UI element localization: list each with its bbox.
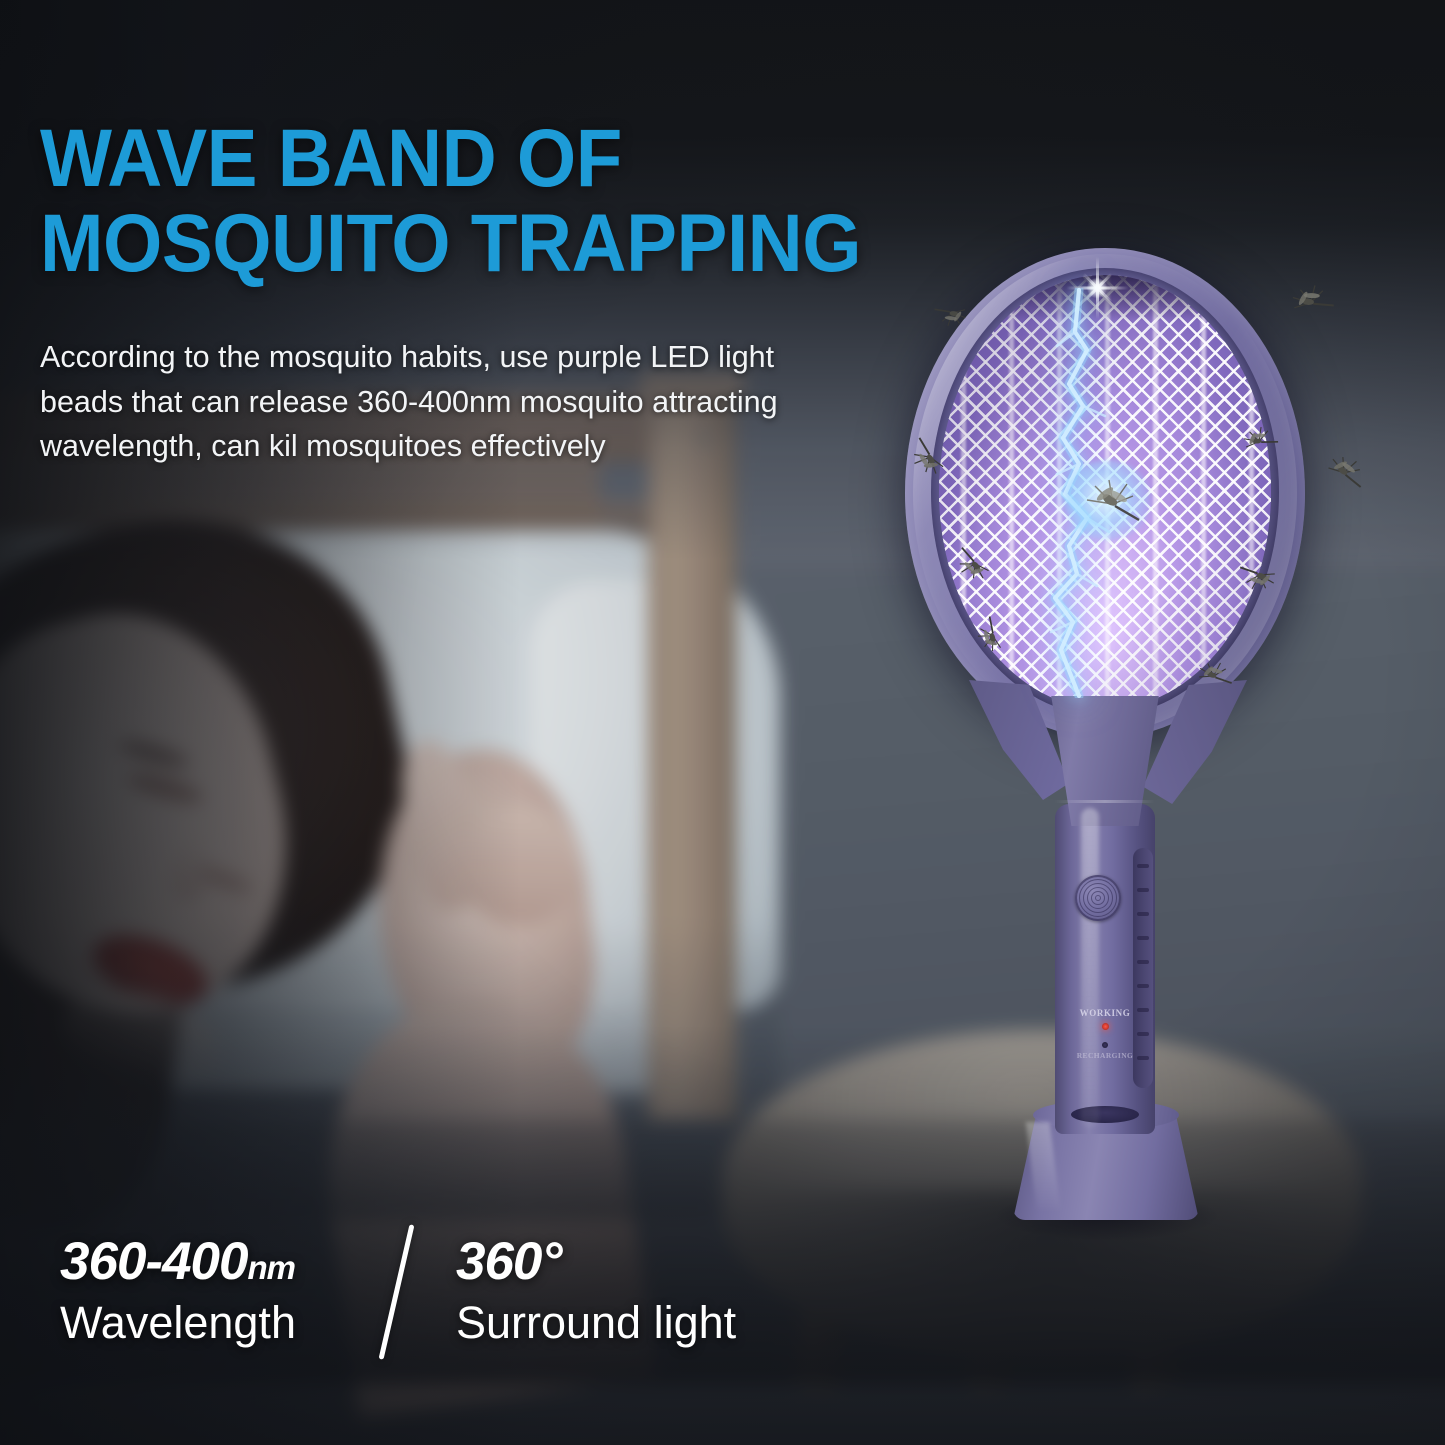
headline-line-2: MOSQUITO TRAPPING: [40, 205, 877, 284]
working-led-indicator: [1102, 1023, 1109, 1030]
status-indicator-group: WORKING RECHARGING: [1055, 1008, 1155, 1060]
feature-divider: [360, 1227, 430, 1357]
mosquito-icon: [1236, 557, 1281, 595]
power-button[interactable]: [1075, 875, 1121, 921]
page-title: WAVE BAND OF MOSQUITO TRAPPING: [40, 120, 877, 283]
feature-wavelength: 360-400nm Wavelength: [60, 1235, 296, 1348]
body-copy: According to the mosquito habits, use pu…: [40, 335, 830, 468]
mosquito-icon: [1322, 452, 1369, 493]
product-marketing-image: WORKING RECHARGING: [0, 0, 1445, 1445]
feature-wavelength-label: Wavelength: [60, 1298, 296, 1348]
product-mosquito-swatter: WORKING RECHARGING: [905, 248, 1325, 1228]
handle-seam: [1055, 800, 1155, 803]
working-label: WORKING: [1055, 1008, 1155, 1018]
feature-wavelength-value: 360-400nm: [60, 1235, 296, 1288]
feature-wavelength-number: 360-400: [60, 1232, 248, 1291]
handle-highlight: [1081, 808, 1099, 1128]
feature-callouts: 360-400nm Wavelength 360° Surround light: [60, 1227, 736, 1357]
feature-surround-light: 360° Surround light: [456, 1235, 736, 1348]
recharging-led-indicator: [1102, 1042, 1108, 1048]
feature-surround-value: 360°: [456, 1235, 736, 1288]
copy-block: WAVE BAND OF MOSQUITO TRAPPING According…: [40, 120, 940, 468]
recharging-label: RECHARGING: [1055, 1051, 1155, 1060]
mosquito-zapped: [1083, 476, 1145, 526]
feature-surround-label: Surround light: [456, 1298, 736, 1348]
headline-line-1: WAVE BAND OF: [40, 113, 622, 204]
feature-wavelength-unit: nm: [248, 1249, 296, 1286]
